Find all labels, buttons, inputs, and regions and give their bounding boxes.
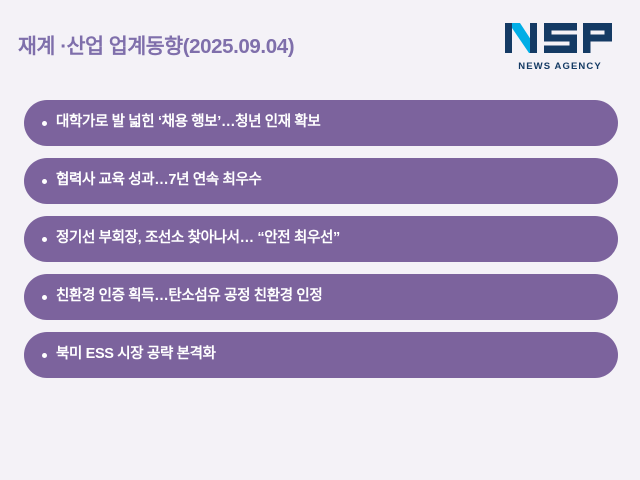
bullet-icon <box>42 179 47 184</box>
headline-text: 정기선 부회장, 조선소 찾아나서… “안전 최우선” <box>56 230 340 247</box>
headline-text: 북미 ESS 시장 공략 본격화 <box>56 346 216 363</box>
nsp-logo: NEWS AGENCY <box>504 21 616 73</box>
nsp-logo-tagline: NEWS AGENCY <box>504 61 616 72</box>
headline-pill-list: 대학가로 발 넓힌 ‘채용 행보’…청년 인재 확보 협력사 교육 성과…7년 … <box>24 100 618 378</box>
bullet-icon <box>42 237 47 242</box>
bullet-icon <box>42 121 47 126</box>
slide-header: 재계 ·산업 업계동향(2025.09.04) NEWS AGENCY <box>0 0 640 92</box>
list-item[interactable]: 대학가로 발 넓힌 ‘채용 행보’…청년 인재 확보 <box>24 100 618 146</box>
headline-text: 협력사 교육 성과…7년 연속 최우수 <box>56 172 261 189</box>
list-item[interactable]: 친환경 인증 획득…탄소섬유 공정 친환경 인정 <box>24 274 618 320</box>
bullet-icon <box>42 295 47 300</box>
bullet-icon <box>42 353 47 358</box>
headline-text: 친환경 인증 획득…탄소섬유 공정 친환경 인정 <box>56 288 322 305</box>
list-item[interactable]: 북미 ESS 시장 공략 본격화 <box>24 332 618 378</box>
nsp-wordmark-icon <box>504 21 616 57</box>
headline-text: 대학가로 발 넓힌 ‘채용 행보’…청년 인재 확보 <box>56 114 320 131</box>
page-title: 재계 ·산업 업계동향(2025.09.04) <box>18 36 294 59</box>
slide-canvas: 재계 ·산업 업계동향(2025.09.04) NEWS AGENCY 대학가로… <box>0 0 640 480</box>
list-item[interactable]: 협력사 교육 성과…7년 연속 최우수 <box>24 158 618 204</box>
list-item[interactable]: 정기선 부회장, 조선소 찾아나서… “안전 최우선” <box>24 216 618 262</box>
